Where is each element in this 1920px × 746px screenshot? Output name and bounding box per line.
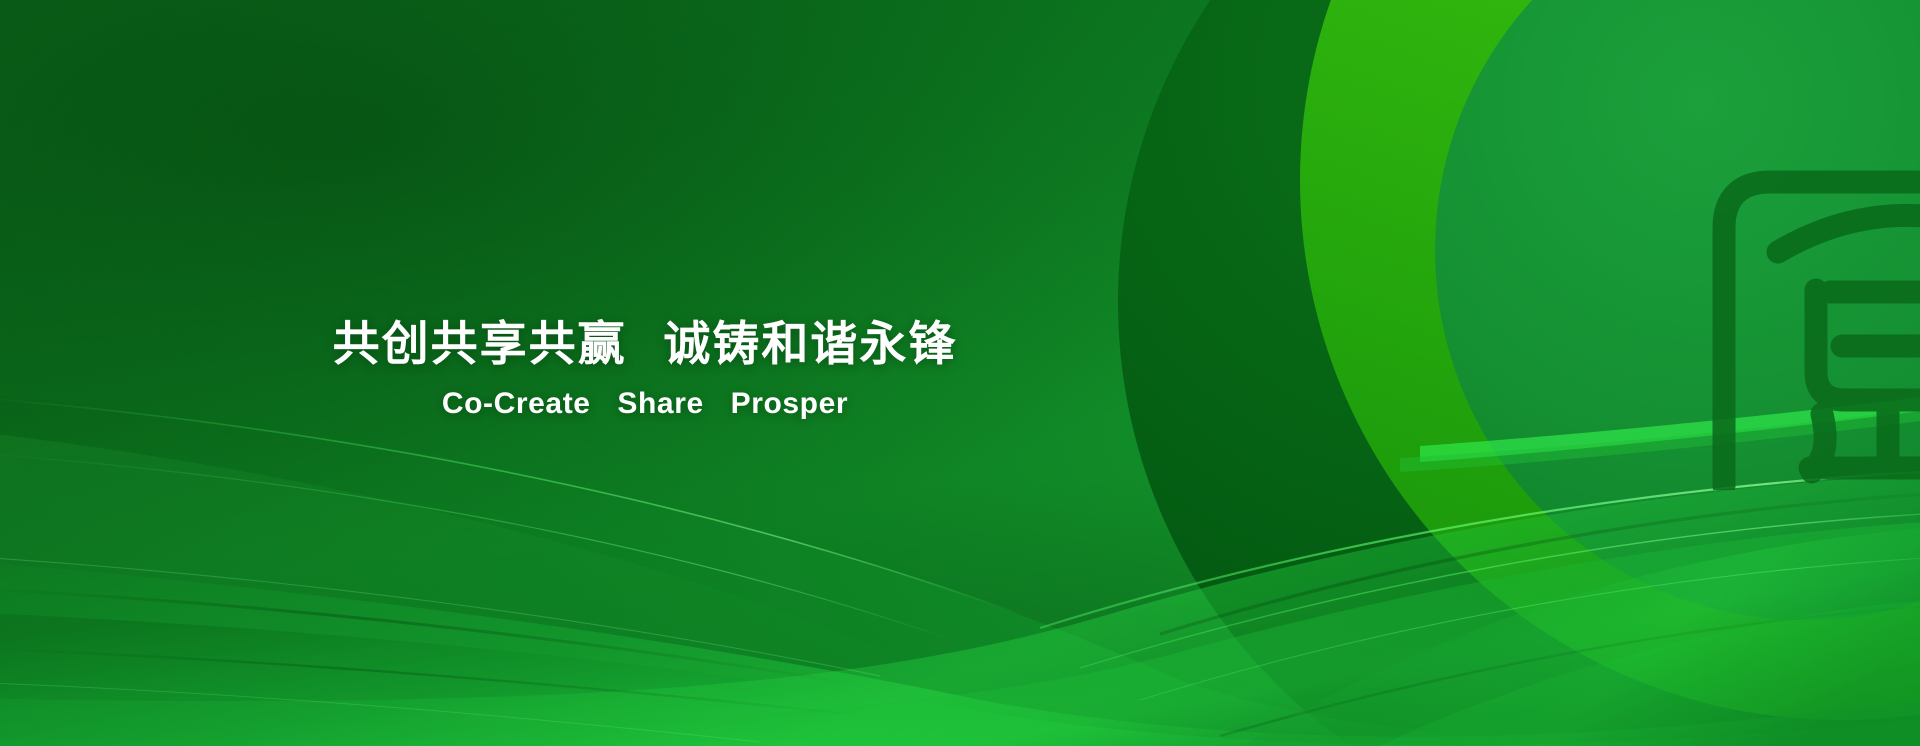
page-title-chinese: 共创共享共赢 诚铸和谐永锋 <box>0 318 1290 373</box>
headline-block: 共创共享共赢 诚铸和谐永锋 Co-Create Share Prosper <box>0 318 1290 421</box>
page-subtitle-english: Co-Create Share Prosper <box>0 387 1290 421</box>
company-seal-watermark-icon <box>1692 168 1920 490</box>
hero-banner: 共创共享共赢 诚铸和谐永锋 Co-Create Share Prosper <box>0 0 1920 746</box>
